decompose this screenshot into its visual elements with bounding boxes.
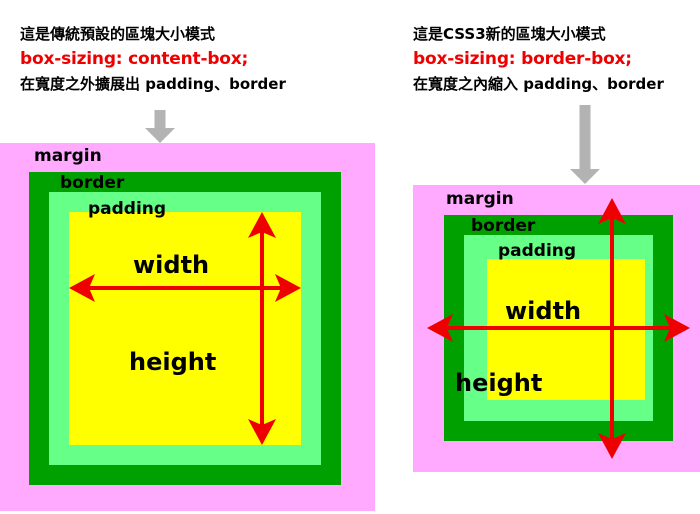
- box-model-diagram-content-box: margin border padding width height: [0, 143, 375, 511]
- caption-border-box: 這是CSS3新的區塊大小模式 box-sizing: border-box; 在…: [413, 22, 664, 97]
- down-arrow-icon: [565, 105, 605, 185]
- caption-line-3: 在寬度之內縮入 padding、border: [413, 72, 664, 97]
- border-label: border: [60, 175, 124, 192]
- down-arrow-icon: [140, 110, 180, 143]
- caption-line-code: box-sizing: content-box;: [20, 47, 286, 72]
- margin-label: margin: [34, 148, 102, 165]
- height-label: height: [455, 371, 542, 395]
- height-measure-arrow: [595, 198, 629, 459]
- box-model-diagram-border-box: margin border padding width height: [413, 185, 700, 472]
- border-label: border: [471, 218, 535, 235]
- padding-label: padding: [88, 201, 166, 218]
- width-label: width: [133, 253, 209, 277]
- width-label: width: [505, 299, 581, 323]
- caption-line-code: box-sizing: border-box;: [413, 47, 664, 72]
- caption-line-1: 這是傳統預設的區塊大小模式: [20, 22, 286, 47]
- caption-content-box: 這是傳統預設的區塊大小模式 box-sizing: content-box; 在…: [20, 22, 286, 97]
- height-measure-arrow: [245, 212, 279, 445]
- height-label: height: [129, 350, 216, 374]
- caption-line-1: 這是CSS3新的區塊大小模式: [413, 22, 664, 47]
- padding-label: padding: [498, 243, 576, 260]
- margin-label: margin: [446, 191, 514, 208]
- caption-line-3: 在寬度之外擴展出 padding、border: [20, 72, 286, 97]
